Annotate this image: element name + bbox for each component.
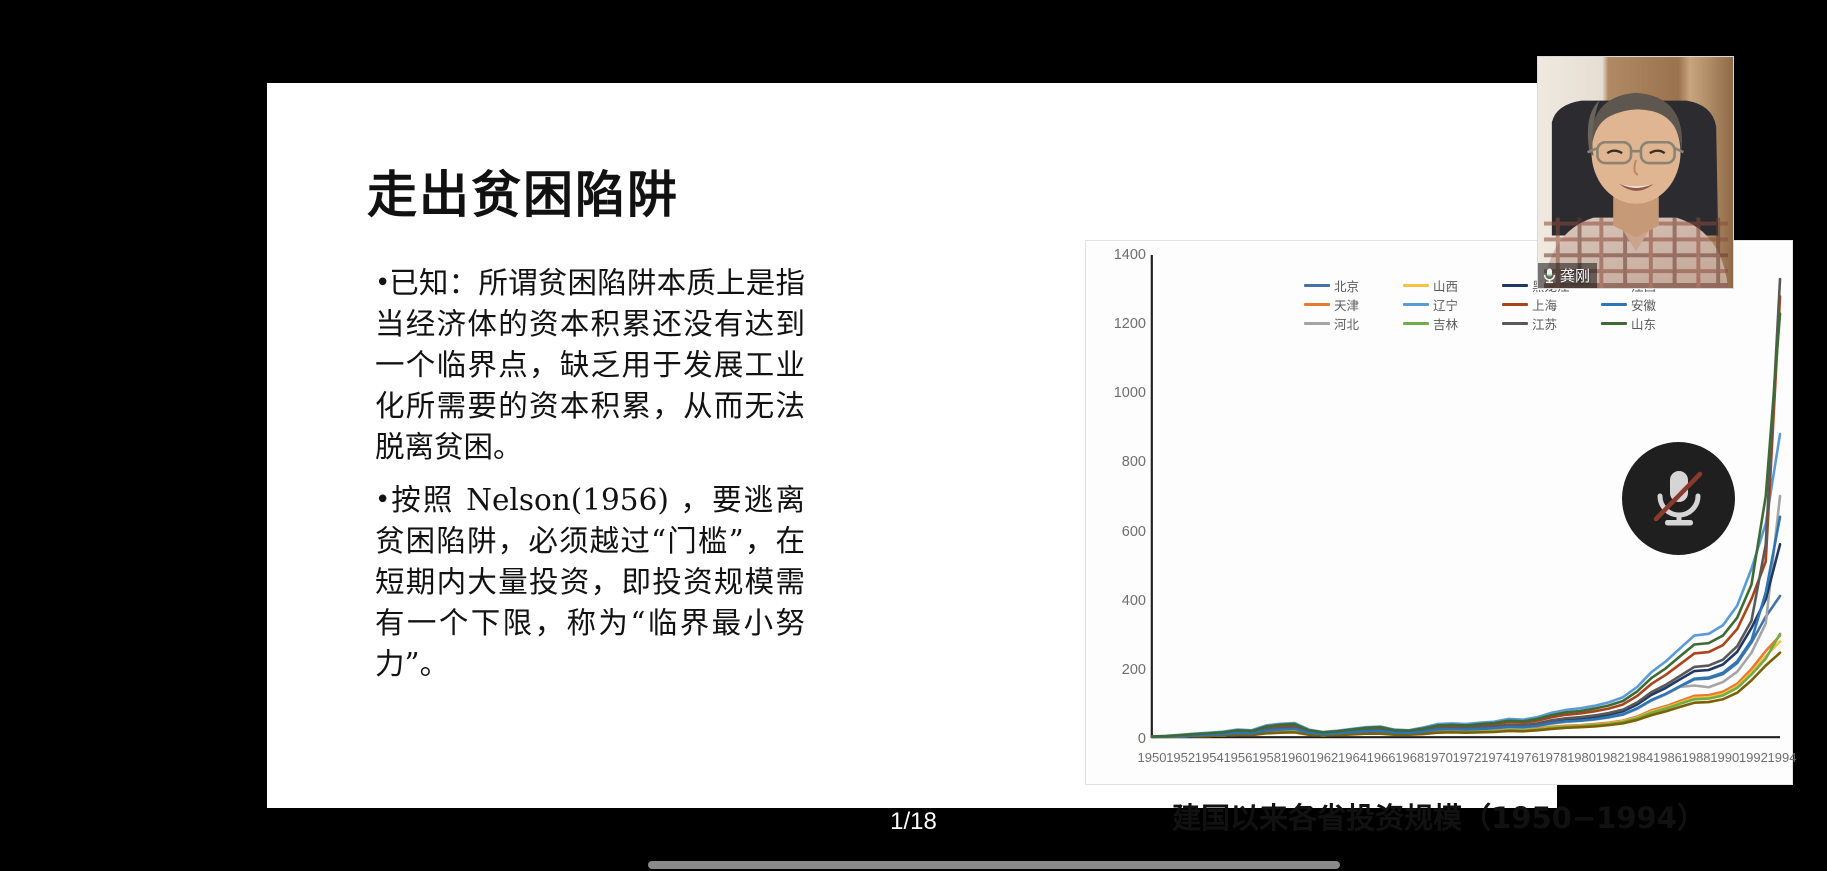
x-axis-tick-label: 1954 [1195, 750, 1224, 765]
bullet-item: •按照 Nelson(1956) ，要逃离贫困陷阱，必须越过“门槛”，在短期内大… [375, 480, 805, 685]
legend-item: 上海 [1502, 296, 1601, 313]
chart-series-line [1152, 641, 1780, 736]
bottom-progress-bar[interactable] [648, 861, 1340, 869]
bullet-marker: • [375, 480, 389, 521]
y-axis-tick-label: 1200 [1114, 316, 1146, 332]
chart-x-axis: 1950195219541956195819601962196419661968… [1156, 750, 1780, 772]
legend-color-swatch [1403, 303, 1429, 307]
participant-video-image [1538, 57, 1733, 288]
page-indicator-label: 1/18 [890, 808, 937, 836]
bullet-marker: • [375, 263, 389, 304]
legend-item: 安徽 [1601, 296, 1700, 313]
x-axis-tick-label: 1950 [1138, 750, 1167, 765]
legend-item: 北京 [1304, 277, 1403, 294]
bullet-text: 已知：所谓贫困陷阱本质上是指当经济体的资本积累还没有达到一个临界点，缺乏用于发展… [375, 266, 805, 464]
legend-label: 山西 [1433, 276, 1458, 295]
legend-color-swatch [1601, 303, 1627, 307]
bullet-text: 按照 Nelson(1956) ，要逃离贫困陷阱，必须越过“门槛”，在短期内大量… [375, 483, 805, 681]
y-axis-tick-label: 1000 [1114, 385, 1146, 401]
legend-label: 河北 [1334, 314, 1359, 333]
chart-series-line [1152, 596, 1780, 737]
x-axis-tick-label: 1960 [1281, 750, 1310, 765]
bullet-item: •已知：所谓贫困陷阱本质上是指当经济体的资本积累还没有达到一个临界点，缺乏用于发… [375, 263, 805, 468]
microphone-muted-icon [1648, 465, 1710, 533]
x-axis-tick-label: 1990 [1710, 750, 1739, 765]
y-axis-tick-label: 400 [1122, 593, 1146, 609]
legend-item: 天津 [1304, 296, 1403, 313]
x-axis-tick-label: 1982 [1596, 750, 1625, 765]
x-axis-tick-label: 1972 [1453, 750, 1482, 765]
x-axis-tick-label: 1966 [1367, 750, 1396, 765]
legend-color-swatch [1304, 284, 1330, 288]
legend-label: 吉林 [1433, 314, 1458, 333]
slide-title: 走出贫困陷阱 [367, 155, 679, 227]
x-axis-tick-label: 1964 [1338, 750, 1367, 765]
legend-label: 辽宁 [1433, 295, 1458, 314]
legend-label: 江苏 [1532, 314, 1557, 333]
chart-y-axis: 0200400600800100012001400 [1096, 241, 1146, 784]
page-indicator: 1/18 [0, 808, 1827, 836]
x-axis-tick-label: 1958 [1252, 750, 1281, 765]
participant-name: 龚刚 [1560, 265, 1590, 286]
legend-label: 北京 [1334, 276, 1359, 295]
x-axis-tick-label: 1992 [1739, 750, 1768, 765]
legend-color-swatch [1304, 303, 1330, 307]
legend-item: 吉林 [1403, 315, 1502, 332]
legend-color-swatch [1304, 322, 1330, 326]
legend-color-swatch [1502, 284, 1528, 288]
participant-video-tile[interactable]: 龚刚 [1537, 56, 1734, 289]
x-axis-tick-label: 1994 [1768, 750, 1797, 765]
legend-color-swatch [1403, 284, 1429, 288]
y-axis-tick-label: 200 [1122, 662, 1146, 678]
x-axis-tick-label: 1988 [1682, 750, 1711, 765]
x-axis-tick-label: 1980 [1567, 750, 1596, 765]
legend-item: 山西 [1403, 277, 1502, 294]
y-axis-tick-label: 1400 [1114, 247, 1146, 263]
legend-item: 山东 [1601, 315, 1700, 332]
slide-body: •已知：所谓贫困陷阱本质上是指当经济体的资本积累还没有达到一个临界点，缺乏用于发… [375, 263, 805, 697]
legend-color-swatch [1502, 303, 1528, 307]
legend-label: 山东 [1631, 314, 1656, 333]
microphone-icon [1542, 267, 1557, 284]
x-axis-tick-label: 1956 [1223, 750, 1252, 765]
y-axis-tick-label: 800 [1122, 454, 1146, 470]
x-axis-tick-label: 1976 [1510, 750, 1539, 765]
x-axis-tick-label: 1962 [1309, 750, 1338, 765]
x-axis-tick-label: 1984 [1624, 750, 1653, 765]
x-axis-tick-label: 1970 [1424, 750, 1453, 765]
legend-label: 上海 [1532, 295, 1557, 314]
legend-item: 江苏 [1502, 315, 1601, 332]
legend-label: 安徽 [1631, 295, 1656, 314]
legend-color-swatch [1502, 322, 1528, 326]
x-axis-tick-label: 1974 [1481, 750, 1510, 765]
mute-microphone-button[interactable] [1622, 442, 1735, 555]
x-axis-tick-label: 1978 [1538, 750, 1567, 765]
x-axis-tick-label: 1952 [1166, 750, 1195, 765]
zoom-presentation-screen: 走出贫困陷阱 •已知：所谓贫困陷阱本质上是指当经济体的资本积累还没有达到一个临界… [0, 0, 1827, 871]
participant-name-badge: 龚刚 [1538, 263, 1597, 288]
legend-color-swatch [1403, 322, 1429, 326]
x-axis-tick-label: 1986 [1653, 750, 1682, 765]
legend-item: 辽宁 [1403, 296, 1502, 313]
y-axis-tick-label: 600 [1122, 524, 1146, 540]
x-axis-tick-label: 1968 [1395, 750, 1424, 765]
presentation-slide[interactable]: 走出贫困陷阱 •已知：所谓贫困陷阱本质上是指当经济体的资本积累还没有达到一个临界… [267, 83, 1557, 808]
y-axis-tick-label: 0 [1138, 731, 1146, 747]
legend-color-swatch [1601, 322, 1627, 326]
legend-label: 天津 [1334, 295, 1359, 314]
chart-series-line [1152, 544, 1780, 737]
legend-item: 河北 [1304, 315, 1403, 332]
